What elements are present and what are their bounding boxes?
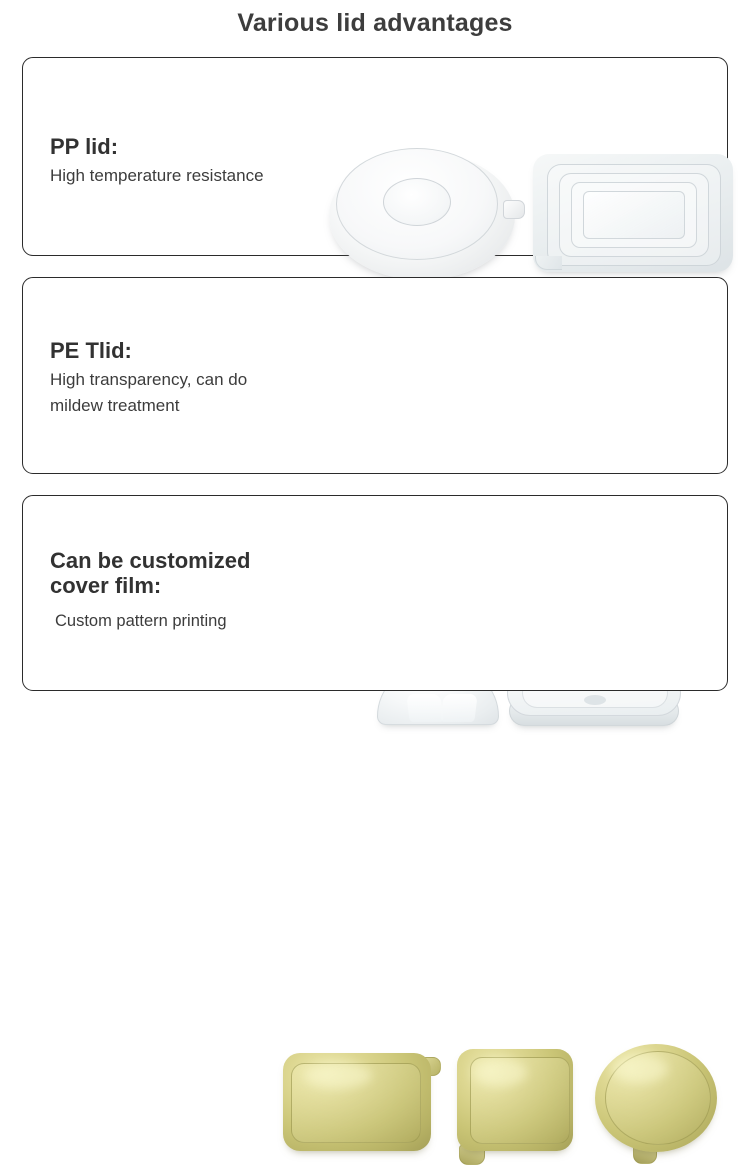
round-lid-rib	[395, 202, 417, 217]
gold-square-lid-body	[457, 1049, 573, 1151]
round-lid-rim	[336, 148, 498, 260]
round-lid-rib	[415, 202, 441, 213]
product-gold-rectangular-foil-lid	[283, 1051, 443, 1156]
round-lid-rib	[401, 203, 417, 221]
product-gold-round-foil-lid	[593, 1044, 728, 1166]
round-lid-rib	[415, 203, 431, 221]
round-lid-rib	[415, 183, 425, 203]
round-lid-rib	[416, 202, 445, 204]
gold-round-lid-body	[595, 1044, 717, 1152]
round-lid-rib	[416, 202, 445, 209]
oval-lid-skirt	[509, 696, 679, 726]
panel-pp-text-block: PP lid: High temperature resistance	[50, 134, 264, 189]
hemisphere-lid-facet-right	[440, 694, 477, 722]
round-lid-rib	[388, 202, 417, 209]
rect-lid-body	[533, 154, 733, 272]
panel-film-heading: Can be customized cover film:	[50, 548, 250, 598]
rect-lid-ring-4	[583, 191, 685, 239]
gold-round-lid-rim	[605, 1051, 711, 1145]
panel-pp-lid: PP lid: High temperature resistance	[22, 57, 728, 256]
gold-rect-lid-body	[283, 1053, 431, 1151]
round-lid-ribs	[336, 165, 496, 241]
round-lid-rib	[416, 197, 445, 204]
gold-round-lid-sheen	[612, 1055, 668, 1083]
round-lid-center-hub	[383, 178, 451, 226]
round-lid-rib	[415, 203, 417, 223]
panel-pp-heading: PP lid:	[50, 134, 264, 159]
rect-lid-ring-2	[559, 173, 709, 257]
round-lid-rib	[387, 202, 416, 204]
panel-pe-heading: PE Tlid:	[50, 338, 247, 363]
gold-square-lid-tab	[459, 1145, 485, 1165]
round-lid-rib	[407, 183, 417, 203]
rect-lid-ring-3	[571, 182, 697, 248]
round-lid-rib	[407, 203, 417, 223]
panel-cover-film: Can be customized cover film: Custom pat…	[22, 495, 728, 691]
product-round-ribbed-pp-lid	[323, 140, 523, 290]
round-lid-rib	[390, 192, 416, 203]
round-lid-rib	[415, 202, 437, 217]
panel-pe-subtitle: High transparency, can do mildew treatme…	[50, 367, 247, 419]
round-lid-rib	[415, 183, 417, 203]
round-lid-body	[329, 152, 515, 280]
panel-pp-subtitle: High temperature resistance	[50, 163, 264, 189]
round-lid-rib	[388, 197, 417, 204]
round-lid-rib	[415, 188, 437, 203]
round-lid-rib	[415, 192, 441, 203]
rect-lid-ring-1	[547, 164, 721, 266]
round-lid-rib	[401, 185, 417, 203]
gold-square-lid-rim	[470, 1057, 570, 1144]
round-lid-rib	[415, 185, 431, 203]
gold-round-lid-tab	[633, 1142, 657, 1164]
panel-pe-tlid: PE Tlid: High transparency, can do milde…	[22, 277, 728, 474]
product-gold-square-foil-lid	[453, 1049, 583, 1161]
panel-film-subtitle: Custom pattern printing	[50, 602, 250, 634]
round-lid-rib	[390, 202, 416, 213]
gold-rect-lid-rim	[291, 1063, 421, 1143]
product-rectangular-pp-lid	[529, 150, 741, 284]
hemisphere-lid-facet-left	[406, 694, 443, 722]
gold-rect-lid-tab	[417, 1057, 441, 1076]
round-lid-tab	[503, 200, 525, 219]
rect-lid-notch	[535, 256, 562, 270]
panel-pe-text-block: PE Tlid: High transparency, can do milde…	[50, 338, 247, 419]
page-title: Various lid advantages	[0, 9, 750, 38]
oval-lid-dimple	[584, 695, 606, 705]
round-lid-rib	[415, 203, 425, 223]
panel-film-text-block: Can be customized cover film: Custom pat…	[50, 548, 250, 634]
round-lid-rib	[395, 188, 417, 203]
gold-rect-lid-sheen	[304, 1063, 372, 1088]
gold-square-lid-sheen	[473, 1059, 526, 1086]
